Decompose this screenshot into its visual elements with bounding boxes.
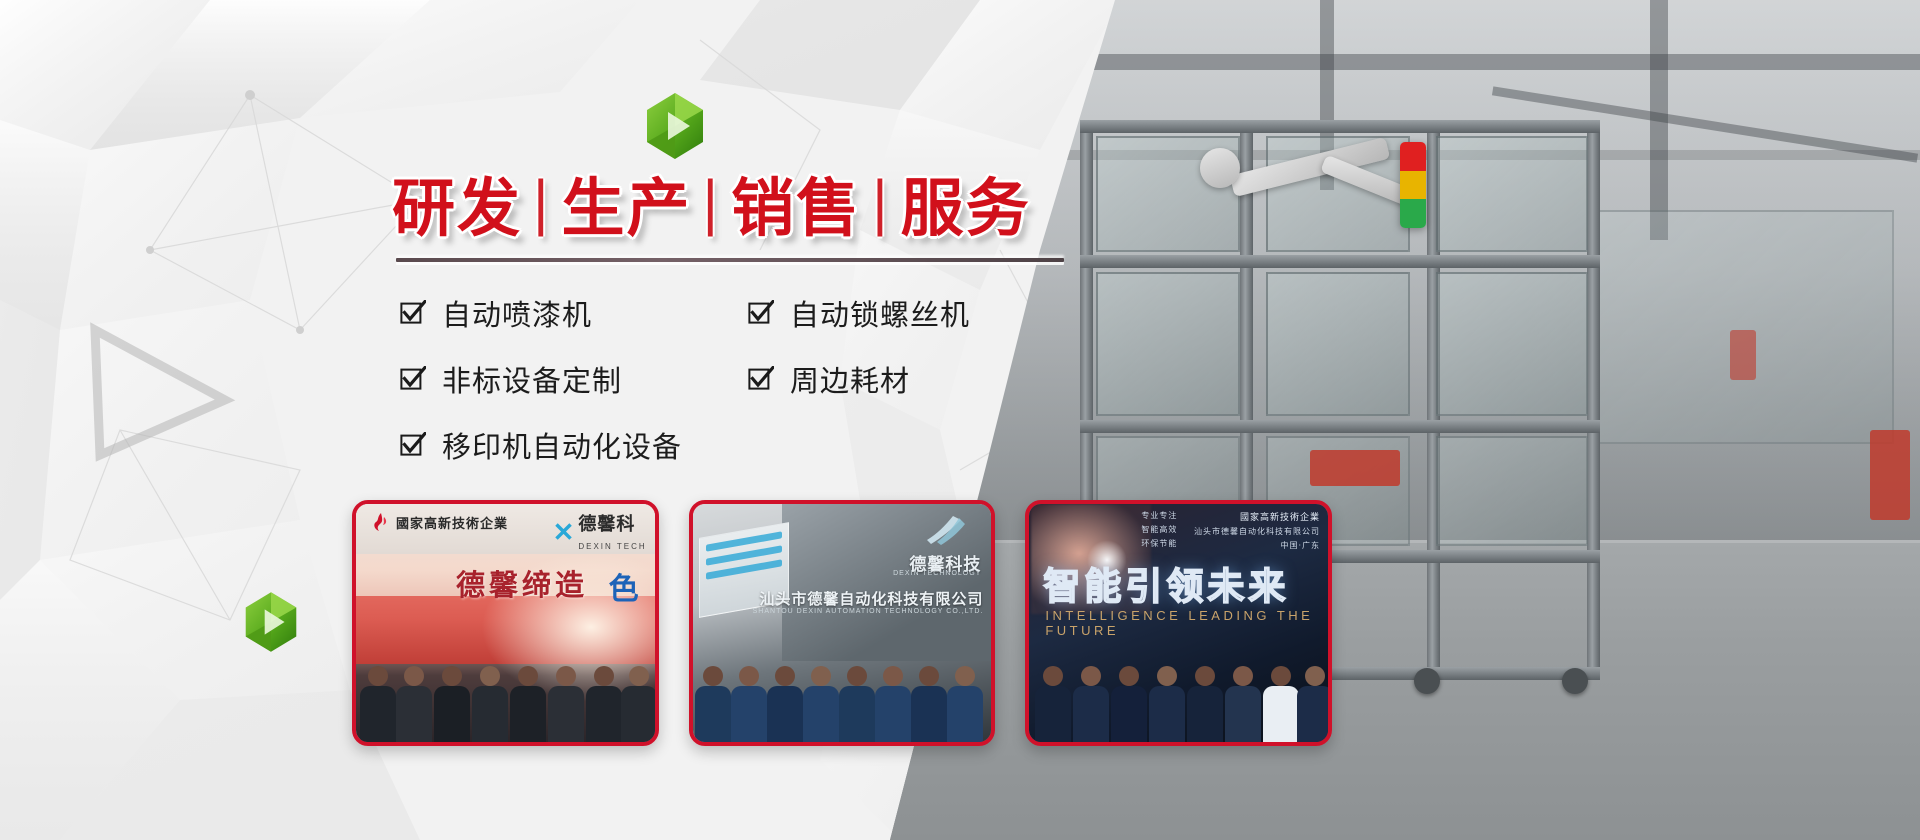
headline: 研发 | 生产 | 销售 | 服务 <box>392 160 1072 246</box>
card1-brand-en: DEXIN TECH <box>578 542 646 551</box>
card3-title: 智能引领未来 <box>1043 556 1289 610</box>
flame-emblem-icon <box>370 512 390 532</box>
headline-separator-2: | <box>692 169 732 237</box>
card2-brand-en: DEXIN TECHNOLOGY <box>893 570 981 577</box>
feature-item: 移印机自动化设备 <box>400 424 718 466</box>
feature-label: 自动喷漆机 <box>442 292 592 334</box>
promo-banner: 研发 | 生产 | 销售 | 服务 自动喷漆机 <box>0 0 1920 840</box>
photo-card-gallery: 國家高新技術企業 ✕ 德馨科 DEXIN TECH 德馨缔造 色 <box>352 500 1332 740</box>
card2-company-cn: 汕头市德馨自动化科技有限公司 <box>759 588 983 609</box>
feature-item: 自动喷漆机 <box>400 292 718 334</box>
green-hexagon-play-icon <box>644 92 706 160</box>
feature-item: 周边耗材 <box>748 358 1066 400</box>
people-group <box>1029 656 1328 742</box>
award-badge-label: 國家高新技術企業 <box>396 513 508 532</box>
card3-tag-left-1: 专业专注 <box>1141 510 1177 521</box>
banner-content: 研发 | 生产 | 销售 | 服务 自动喷漆机 <box>0 0 1100 840</box>
photo-card-company-lobby[interactable]: 德馨科技 DEXIN TECHNOLOGY 汕头市德馨自动化科技有限公司 SHA… <box>689 500 996 746</box>
photo-card-intelligence-future[interactable]: 國家高新技術企業 汕头市德馨自动化科技有限公司 中国·广东 专业专注 智能高效 … <box>1025 500 1332 746</box>
feature-list: 自动喷漆机 自动锁螺丝机 非标设备定制 <box>400 292 1080 466</box>
headline-word-3: 销售 <box>731 158 861 249</box>
card3-tag-group: 國家高新技術企業 汕头市德馨自动化科技有限公司 中国·广东 <box>1194 510 1320 554</box>
card2-company-en: SHANTOU DEXIN AUTOMATION TECHNOLOGY CO.,… <box>753 608 984 615</box>
card3-subtitle: INTELLIGENCE LEADING THE FUTURE <box>1045 608 1328 638</box>
headline-word-4: 服务 <box>901 158 1031 249</box>
people-group <box>693 656 992 742</box>
headline-separator-3: | <box>861 169 901 237</box>
card3-tag-right-1: 國家高新技術企業 <box>1194 510 1320 523</box>
headline-divider <box>396 258 1064 262</box>
dexin-brand-mark-icon <box>923 512 969 546</box>
feature-label: 移印机自动化设备 <box>442 424 682 466</box>
headline-word-1: 研发 <box>392 158 522 249</box>
checkbox-checked-icon <box>748 366 774 392</box>
feature-label: 周边耗材 <box>790 358 910 400</box>
feature-item: 非标设备定制 <box>400 358 718 400</box>
checkbox-checked-icon <box>400 366 426 392</box>
card1-blue-text: 色 <box>609 564 639 608</box>
card3-tag-left-3: 环保节能 <box>1141 538 1177 549</box>
card3-tag-right-3: 中国·广东 <box>1194 540 1320 551</box>
card3-tag-right-2: 汕头市德馨自动化科技有限公司 <box>1194 526 1320 537</box>
checkbox-checked-icon <box>748 300 774 326</box>
headline-separator-1: | <box>522 169 562 237</box>
checkbox-checked-icon <box>400 300 426 326</box>
checkbox-checked-icon <box>400 432 426 458</box>
card1-script-text: 德馨缔造 <box>456 562 588 604</box>
feature-label: 非标设备定制 <box>442 358 622 400</box>
stack-light-icon <box>1400 142 1426 228</box>
photo-card-award-ceremony[interactable]: 國家高新技術企業 ✕ 德馨科 DEXIN TECH 德馨缔造 色 <box>352 500 659 746</box>
feature-item: 自动锁螺丝机 <box>748 292 1066 334</box>
dexin-x-logo-icon: ✕ <box>553 517 575 548</box>
green-hexagon-play-icon-small <box>243 591 299 653</box>
headline-word-2: 生产 <box>562 158 692 249</box>
card1-brand-cn: 德馨科 <box>578 514 635 535</box>
card3-tag-left-2: 智能高效 <box>1141 524 1177 535</box>
people-group <box>356 656 655 742</box>
feature-label: 自动锁螺丝机 <box>790 292 970 334</box>
